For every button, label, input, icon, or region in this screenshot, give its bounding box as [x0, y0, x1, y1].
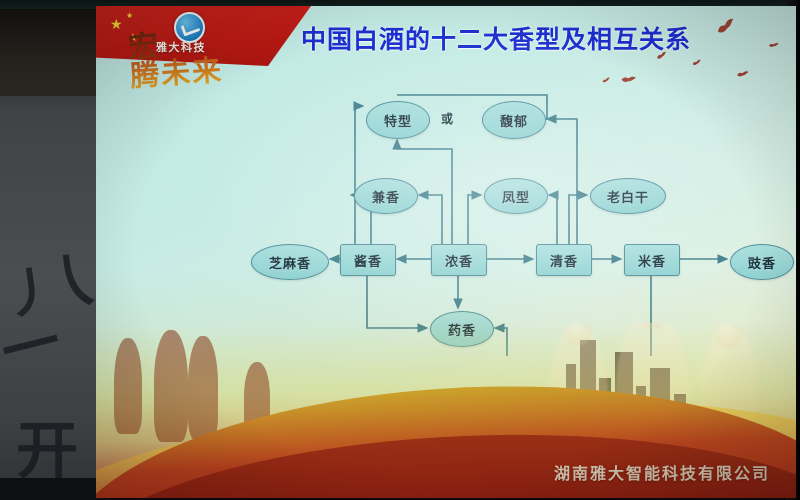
diagram-node-zhimaxiang: 芝麻香 — [251, 244, 329, 280]
page-title: 中国白酒的十二大香型及相互关系 — [236, 20, 756, 56]
bird-icon — [655, 49, 670, 65]
presentation-slide: ★ ★ ★ 宏 腾未来 雅大科技 中国白酒的十二大香型及相互关系 — [96, 6, 796, 498]
footer-company-name: 湖南雅大智能科技有限公司 — [554, 460, 770, 484]
diagram-node-mixiang: 米香 — [624, 244, 680, 276]
diagram-node-texing: 特型 — [366, 101, 430, 139]
brand-name-label: 雅大科技 — [156, 39, 206, 55]
crowd-silhouette — [114, 338, 142, 434]
diagram-node-nongxiang: 浓香 — [431, 244, 487, 276]
edge-qingxiang-laobaigan — [569, 195, 587, 244]
star-icon: ★ — [126, 12, 133, 20]
diagram-node-laobaigan: 老白干 — [590, 178, 666, 214]
edge-jiangxiang-texing — [355, 106, 363, 244]
edge-qingxiang-fuyu — [547, 119, 577, 244]
diagram-node-fuyu: 馥郁 — [482, 101, 546, 139]
diagram-node-chixiang: 豉香 — [730, 244, 794, 280]
photo-of-projected-slide: 丿 ㇏ 一 开 ★ ★ ★ 宏 腾未来 雅大科技 中国白酒的十二大香型及相互关系 — [0, 0, 800, 500]
connector-label-or: 或 — [441, 110, 453, 127]
star-icon: ★ — [110, 18, 123, 32]
diagram-node-jianxiang: 兼香 — [354, 178, 418, 214]
edge-nongxiang-jianxiang — [419, 195, 442, 244]
projection-screen: ★ ★ ★ 宏 腾未来 雅大科技 中国白酒的十二大香型及相互关系 — [96, 6, 796, 498]
diagram-node-jiangxiang: 酱香 — [340, 244, 396, 276]
edge-qingxiang-fengxing — [549, 195, 557, 244]
diagram-node-qingxiang: 清香 — [536, 244, 592, 276]
room-wall-upper-dark — [0, 0, 108, 96]
edge-nongxiang-fengxing — [468, 195, 481, 244]
room-floor-edge — [0, 478, 110, 500]
aroma-type-relationship-diagram: 或 特型馥郁兼香凤型老白干芝麻香酱香浓香清香米香豉香药香 — [96, 66, 796, 356]
wall-calligraphy-character: 开 — [16, 420, 78, 482]
slide-footer-artwork: 湖南雅大智能科技有限公司 — [96, 323, 796, 498]
edge-jiangxiang-yaoxiang — [367, 274, 427, 328]
crowd-silhouette — [188, 336, 218, 440]
diagram-node-fengxing: 凤型 — [484, 178, 548, 214]
crowd-silhouette — [154, 330, 188, 442]
